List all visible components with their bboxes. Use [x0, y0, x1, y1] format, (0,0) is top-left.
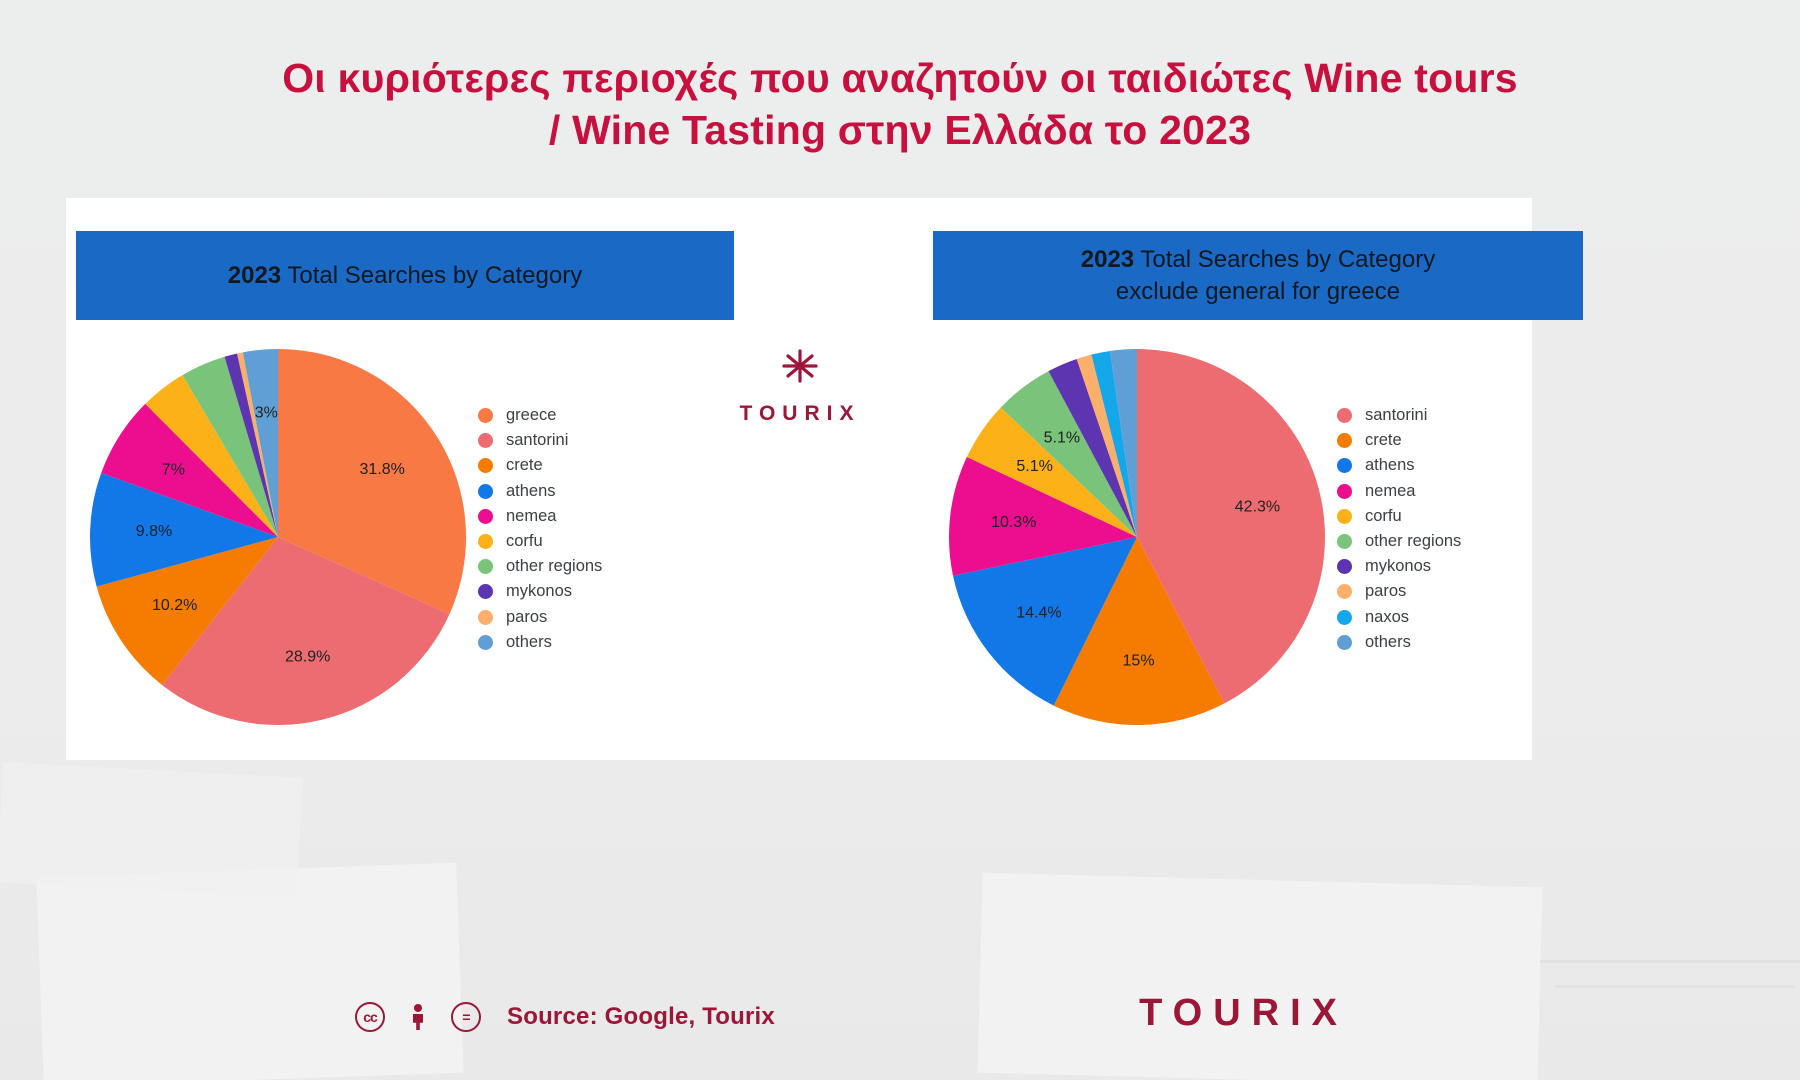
legend-item[interactable]: others: [1337, 630, 1461, 655]
legend-left: greecesantorinicreteathensnemeacorfuothe…: [478, 403, 602, 655]
chart-header-left: 2023 Total Searches by Category: [76, 231, 734, 320]
person-head: [414, 1004, 422, 1012]
legend-color-swatch: [1337, 458, 1352, 473]
legend-item-label: naxos: [1365, 608, 1409, 627]
legend-item[interactable]: santorini: [478, 428, 602, 453]
legend-color-swatch: [478, 534, 493, 549]
legend-item[interactable]: crete: [1337, 428, 1461, 453]
legend-color-swatch: [478, 635, 493, 650]
pie-slice-label: 5.1%: [1016, 458, 1052, 475]
legend-color-swatch: [1337, 433, 1352, 448]
legend-item-label: santorini: [1365, 406, 1427, 425]
footer-brand-text: TOURIX: [1139, 992, 1348, 1035]
chart-header-right-rest: Total Searches by Category: [1134, 246, 1435, 273]
legend-item[interactable]: santorini: [1337, 403, 1461, 428]
legend-color-swatch: [1337, 559, 1352, 574]
background-document-2: [977, 873, 1542, 1080]
pie-slice-label: 10.3%: [991, 514, 1036, 531]
legend-item-label: nemea: [506, 507, 556, 526]
legend-item-label: mykonos: [1365, 557, 1431, 576]
pie-left-svg: 31.8%28.9%10.2%9.8%7%3%: [88, 347, 468, 727]
legend-color-swatch: [478, 433, 493, 448]
legend-item-label: crete: [506, 456, 543, 475]
pie-slice-label: 10.2%: [152, 597, 197, 614]
source-label: Source: Google, Tourix: [507, 1003, 775, 1031]
pie-right-svg: 42.3%15%14.4%10.3%5.1%5.1%: [947, 347, 1327, 727]
pie-slice-label: 9.8%: [136, 523, 172, 540]
chart-header-left-year: 2023: [228, 262, 281, 289]
legend-item[interactable]: paros: [1337, 579, 1461, 604]
pie-slice-label: 7%: [162, 462, 185, 479]
legend-item[interactable]: corfu: [1337, 504, 1461, 529]
page-title-line-2: / Wine Tasting στην Ελλάδα το 2023: [549, 107, 1251, 153]
legend-color-swatch: [1337, 610, 1352, 625]
legend-item[interactable]: nemea: [478, 504, 602, 529]
legend-item[interactable]: corfu: [478, 529, 602, 554]
legend-color-swatch: [1337, 509, 1352, 524]
legend-right: santorinicreteathensnemeacorfuother regi…: [1337, 403, 1461, 655]
chart-panel-left: 2023 Total Searches by Category 31.8%28.…: [66, 198, 799, 760]
background-document-3: [0, 762, 303, 898]
tourix-logo-icon: [700, 348, 900, 390]
legend-item-label: corfu: [1365, 507, 1402, 526]
legend-color-swatch: [478, 559, 493, 574]
chart-header-left-rest: Total Searches by Category: [281, 262, 582, 289]
legend-item-label: santorini: [506, 431, 568, 450]
legend-color-swatch: [1337, 484, 1352, 499]
chart-header-right: 2023 Total Searches by Category exclude …: [933, 231, 1583, 320]
charts-card: 2023 Total Searches by Category 31.8%28.…: [66, 198, 1532, 760]
legend-item[interactable]: crete: [478, 453, 602, 478]
legend-item[interactable]: paros: [478, 605, 602, 630]
pie-chart-left: 31.8%28.9%10.2%9.8%7%3%: [88, 347, 468, 727]
creative-commons-icon: cc: [355, 1002, 385, 1032]
legend-item-label: paros: [506, 608, 547, 627]
legend-color-swatch: [1337, 635, 1352, 650]
page-title-line-1: Οι κυριότερες περιοχές που αναζητούν οι …: [282, 55, 1518, 101]
legend-item[interactable]: naxos: [1337, 605, 1461, 630]
center-brand-text: TOURIX: [700, 402, 900, 426]
center-brand-mark: TOURIX: [700, 348, 900, 426]
background-line-2: [1555, 985, 1795, 988]
page-title: Οι κυριότερες περιοχές που αναζητούν οι …: [0, 52, 1800, 157]
legend-item-label: crete: [1365, 431, 1402, 450]
pie-slice-label: 42.3%: [1235, 498, 1280, 515]
chart-header-right-line2: exclude general for greece: [1081, 276, 1435, 308]
legend-item[interactable]: other regions: [478, 554, 602, 579]
legend-item-label: greece: [506, 406, 556, 425]
legend-item[interactable]: other regions: [1337, 529, 1461, 554]
pie-slice-label: 3%: [255, 405, 278, 422]
legend-color-swatch: [478, 610, 493, 625]
legend-item-label: corfu: [506, 532, 543, 551]
legend-item[interactable]: athens: [1337, 453, 1461, 478]
legend-item-label: nemea: [1365, 482, 1415, 501]
legend-item[interactable]: nemea: [1337, 479, 1461, 504]
attribution-person-icon: [403, 1002, 433, 1032]
legend-item-label: other regions: [506, 557, 602, 576]
legend-item[interactable]: greece: [478, 403, 602, 428]
legend-item-label: athens: [1365, 456, 1415, 475]
chart-header-right-year: 2023: [1081, 246, 1134, 273]
person-body: [413, 1014, 423, 1030]
legend-item-label: mykonos: [506, 582, 572, 601]
pie-slice-label: 14.4%: [1016, 604, 1061, 621]
legend-color-swatch: [1337, 534, 1352, 549]
legend-item[interactable]: others: [478, 630, 602, 655]
legend-color-swatch: [478, 408, 493, 423]
legend-color-swatch: [478, 458, 493, 473]
no-derivatives-icon: =: [451, 1002, 481, 1032]
footer-license-source: cc = Source: Google, Tourix: [355, 1002, 775, 1032]
legend-item-label: paros: [1365, 582, 1406, 601]
legend-color-swatch: [1337, 408, 1352, 423]
legend-color-swatch: [1337, 584, 1352, 599]
legend-item-label: athens: [506, 482, 556, 501]
pie-slice-label: 15%: [1123, 652, 1155, 669]
legend-item-label: others: [1365, 633, 1411, 652]
legend-color-swatch: [478, 509, 493, 524]
legend-item[interactable]: athens: [478, 479, 602, 504]
tourix-mark-svg: [780, 348, 820, 384]
legend-color-swatch: [478, 484, 493, 499]
legend-item-label: other regions: [1365, 532, 1461, 551]
legend-item[interactable]: mykonos: [478, 579, 602, 604]
pie-slice-label: 31.8%: [360, 461, 405, 478]
legend-item-label: others: [506, 633, 552, 652]
chart-panel-right: 2023 Total Searches by Category exclude …: [799, 198, 1532, 760]
pie-slice-label: 5.1%: [1044, 429, 1080, 446]
background-line-1: [1540, 960, 1800, 963]
legend-color-swatch: [478, 584, 493, 599]
pie-slice-label: 28.9%: [285, 649, 330, 666]
legend-item[interactable]: mykonos: [1337, 554, 1461, 579]
pie-chart-right: 42.3%15%14.4%10.3%5.1%5.1%: [947, 347, 1327, 727]
